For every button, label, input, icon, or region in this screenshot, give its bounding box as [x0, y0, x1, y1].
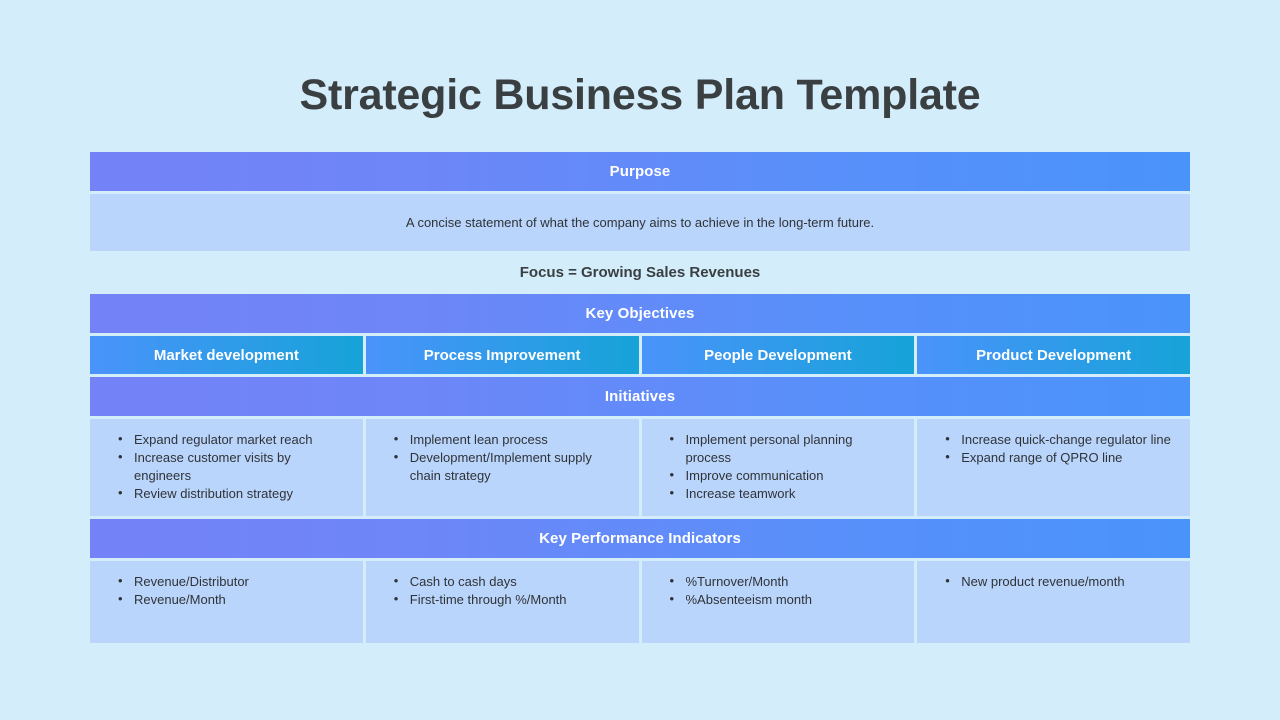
list-item: New product revenue/month: [961, 573, 1176, 591]
list-item: Improve communication: [686, 467, 901, 485]
initiatives-list-2: Implement lean process Development/Imple…: [380, 431, 625, 485]
list-item: %Absenteeism month: [686, 591, 901, 609]
initiatives-column-people-development: Implement personal planning process Impr…: [642, 419, 915, 516]
kpi-list-2: Cash to cash days First-time through %/M…: [380, 573, 625, 609]
objective-process-improvement: Process Improvement: [366, 336, 639, 374]
initiatives-list-1: Expand regulator market reach Increase c…: [104, 431, 349, 503]
list-item: First-time through %/Month: [410, 591, 625, 609]
kpi-row: Revenue/Distributor Revenue/Month Cash t…: [90, 561, 1190, 643]
initiatives-column-process-improvement: Implement lean process Development/Imple…: [366, 419, 639, 516]
kpi-column-product-development: New product revenue/month: [917, 561, 1190, 643]
initiatives-header: Initiatives: [90, 377, 1190, 416]
kpi-column-people-development: %Turnover/Month %Absenteeism month: [642, 561, 915, 643]
slide: Strategic Business Plan Template Purpose…: [0, 0, 1280, 720]
key-objectives-row: Market development Process Improvement P…: [90, 336, 1190, 374]
list-item: Revenue/Month: [134, 591, 349, 609]
plan-board: Purpose A concise statement of what the …: [90, 152, 1190, 643]
list-item: Development/Implement supply chain strat…: [410, 449, 625, 485]
key-objectives-header: Key Objectives: [90, 294, 1190, 333]
purpose-body: A concise statement of what the company …: [90, 194, 1190, 251]
objective-market-development: Market development: [90, 336, 363, 374]
kpi-list-1: Revenue/Distributor Revenue/Month: [104, 573, 349, 609]
kpi-header: Key Performance Indicators: [90, 519, 1190, 558]
list-item: Expand range of QPRO line: [961, 449, 1176, 467]
list-item: Review distribution strategy: [134, 485, 349, 503]
initiatives-column-product-development: Increase quick-change regulator line Exp…: [917, 419, 1190, 516]
kpi-column-market-development: Revenue/Distributor Revenue/Month: [90, 561, 363, 643]
objective-product-development: Product Development: [917, 336, 1190, 374]
initiatives-column-market-development: Expand regulator market reach Increase c…: [90, 419, 363, 516]
page-title: Strategic Business Plan Template: [0, 68, 1280, 122]
purpose-header: Purpose: [90, 152, 1190, 191]
objective-people-development: People Development: [642, 336, 915, 374]
list-item: Revenue/Distributor: [134, 573, 349, 591]
kpi-list-4: New product revenue/month: [931, 573, 1176, 591]
initiatives-list-4: Increase quick-change regulator line Exp…: [931, 431, 1176, 467]
list-item: Increase quick-change regulator line: [961, 431, 1176, 449]
list-item: Increase teamwork: [686, 485, 901, 503]
list-item: Expand regulator market reach: [134, 431, 349, 449]
initiatives-row: Expand regulator market reach Increase c…: [90, 419, 1190, 516]
list-item: Implement lean process: [410, 431, 625, 449]
list-item: Increase customer visits by engineers: [134, 449, 349, 485]
list-item: Cash to cash days: [410, 573, 625, 591]
focus-statement: Focus = Growing Sales Revenues: [90, 251, 1190, 294]
list-item: %Turnover/Month: [686, 573, 901, 591]
list-item: Implement personal planning process: [686, 431, 901, 467]
kpi-column-process-improvement: Cash to cash days First-time through %/M…: [366, 561, 639, 643]
kpi-list-3: %Turnover/Month %Absenteeism month: [656, 573, 901, 609]
purpose-statement: A concise statement of what the company …: [406, 215, 874, 230]
initiatives-list-3: Implement personal planning process Impr…: [656, 431, 901, 503]
